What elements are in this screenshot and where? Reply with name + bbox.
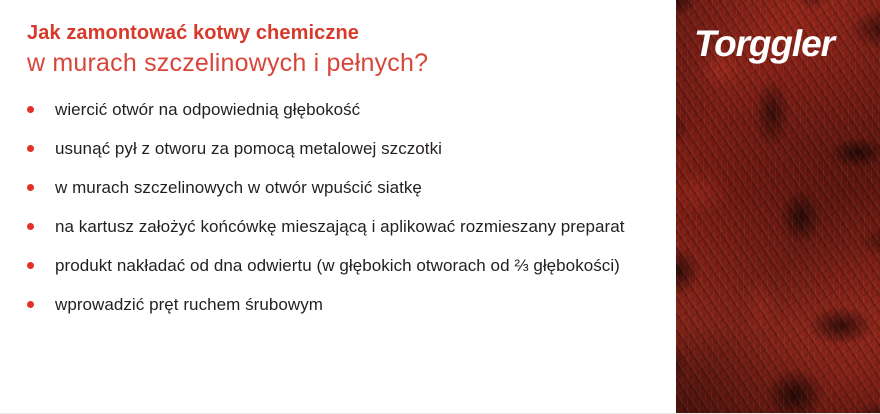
bullet-dot-icon bbox=[27, 301, 34, 308]
torggler-logo: Torggler bbox=[694, 23, 866, 65]
list-item-label: wprowadzić pręt ruchem śrubowym bbox=[55, 292, 662, 317]
brand-panel: Torggler bbox=[676, 0, 880, 414]
instruction-list: wiercić otwór na odpowiednią głębokość u… bbox=[22, 97, 662, 317]
list-item-label: wiercić otwór na odpowiednią głębokość bbox=[55, 97, 662, 122]
headline-line-1: Jak zamontować kotwy chemiczne bbox=[27, 20, 657, 46]
list-item: na kartusz założyć końcówkę mieszającą i… bbox=[22, 214, 662, 239]
list-item: usunąć pył z otworu za pomocą metalowej … bbox=[22, 136, 662, 161]
list-item-label: na kartusz założyć końcówkę mieszającą i… bbox=[55, 214, 662, 239]
list-item: w murach szczelinowych w otwór wpuścić s… bbox=[22, 175, 662, 200]
slide-root: Jak zamontować kotwy chemiczne w murach … bbox=[0, 0, 880, 414]
bullet-dot-icon bbox=[27, 106, 34, 113]
list-item: wiercić otwór na odpowiednią głębokość bbox=[22, 97, 662, 122]
headline-line-2: w murach szczelinowych i pełnych? bbox=[27, 47, 657, 80]
bullet-dot-icon bbox=[27, 262, 34, 269]
list-item: wprowadzić pręt ruchem śrubowym bbox=[22, 292, 662, 317]
bullet-dot-icon bbox=[27, 184, 34, 191]
list-item-label: usunąć pył z otworu za pomocą metalowej … bbox=[55, 136, 662, 161]
bullet-dot-icon bbox=[27, 145, 34, 152]
bullet-dot-icon bbox=[27, 223, 34, 230]
content-panel: Jak zamontować kotwy chemiczne w murach … bbox=[0, 0, 676, 414]
list-item: produkt nakładać od dna odwiertu (w głęb… bbox=[22, 253, 662, 278]
list-item-label: produkt nakładać od dna odwiertu (w głęb… bbox=[55, 253, 662, 278]
headline-block: Jak zamontować kotwy chemiczne w murach … bbox=[27, 20, 657, 80]
list-item-label: w murach szczelinowych w otwór wpuścić s… bbox=[55, 175, 662, 200]
